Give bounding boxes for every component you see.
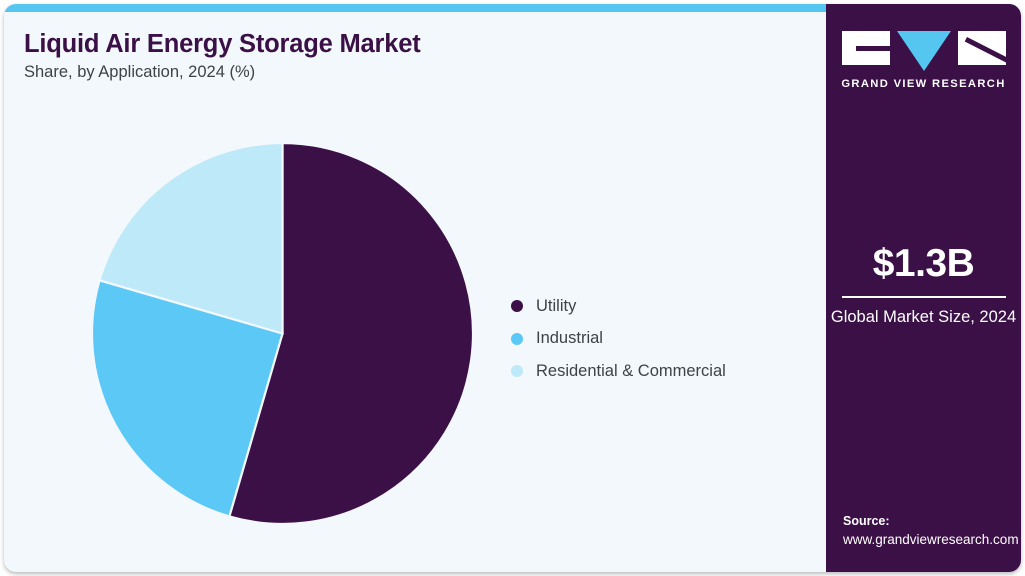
legend-item-utility[interactable]: Utility (511, 290, 726, 323)
infographic-card: Liquid Air Energy Storage Market Share, … (4, 4, 1021, 572)
pie-chart (92, 143, 473, 524)
grand-view-research-logo: GRAND VIEW RESEARCH (826, 31, 1021, 90)
logo-letter-r-icon (958, 31, 1006, 65)
source-url[interactable]: www.grandviewresearch.com (843, 530, 1019, 550)
market-size-block: $1.3B Global Market Size, 2024 (826, 244, 1021, 328)
legend-label-industrial: Industrial (536, 329, 603, 348)
logo-marks (826, 31, 1021, 71)
pie-chart-svg (92, 143, 473, 524)
brand-sidebar: GRAND VIEW RESEARCH $1.3B Global Market … (826, 4, 1021, 572)
stat-divider (842, 296, 1006, 298)
source-label: Source: (843, 512, 1019, 530)
legend-swatch-industrial (511, 333, 523, 345)
legend-label-utility: Utility (536, 297, 576, 316)
page-title: Liquid Air Energy Storage Market (24, 30, 420, 59)
legend-item-industrial[interactable]: Industrial (511, 323, 726, 356)
logo-letter-g-icon (842, 31, 890, 65)
legend-item-residential-commercial[interactable]: Residential & Commercial (511, 355, 726, 388)
source-block: Source: www.grandviewresearch.com (843, 512, 1019, 550)
market-size-value: $1.3B (826, 244, 1021, 283)
logo-letter-v-triangle-icon (897, 31, 951, 71)
market-size-caption: Global Market Size, 2024 (826, 307, 1021, 328)
legend-swatch-utility (511, 300, 523, 312)
page-subtitle: Share, by Application, 2024 (%) (24, 63, 255, 82)
legend-swatch-residential-commercial (511, 365, 523, 377)
legend-label-residential-commercial: Residential & Commercial (536, 362, 726, 381)
logo-wordmark: GRAND VIEW RESEARCH (826, 78, 1021, 90)
chart-legend: Utility Industrial Residential & Commerc… (511, 290, 726, 388)
